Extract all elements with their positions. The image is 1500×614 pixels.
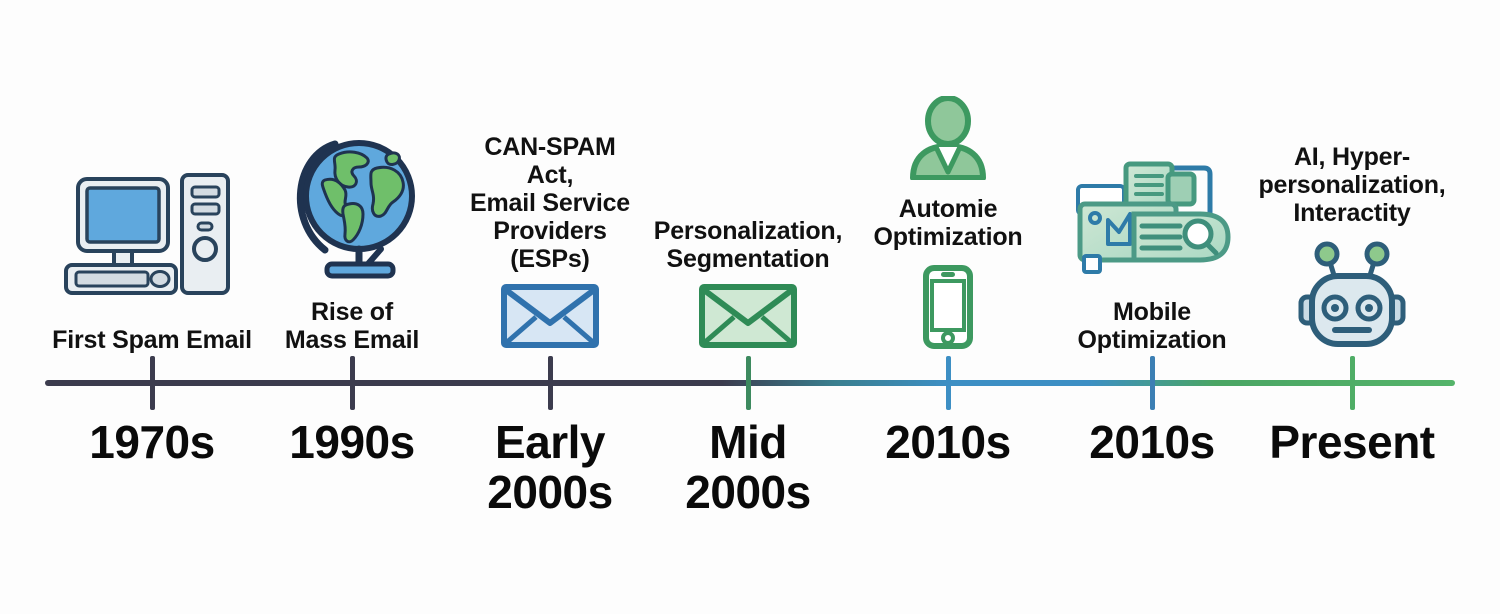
green-envelope-icon — [698, 283, 798, 354]
era-automation-optimization: Automie Optimization — [833, 0, 1063, 380]
axis-tick-mid-2000s — [746, 356, 751, 410]
era-caption: Automie Optimization — [874, 195, 1023, 251]
era-caption: Mobile Optimization — [1078, 298, 1227, 354]
year-label-present: Present — [1232, 418, 1472, 468]
era-can-spam-act: CAN-SPAM Act, Email Service Providers (E… — [435, 0, 665, 380]
era-mobile-optimization: Mobile Optimization — [1037, 0, 1267, 380]
axis-tick-present — [1350, 356, 1355, 410]
era-caption: AI, Hyper- personalization, Interactity — [1258, 143, 1445, 227]
era-ai-hyper-personalization: AI, Hyper- personalization, Interactity — [1237, 0, 1467, 380]
globe-icon — [277, 128, 427, 288]
blue-envelope-icon — [500, 283, 600, 354]
era-rise-of-mass-email: Rise of Mass Email — [237, 0, 467, 380]
era-caption: First Spam Email — [52, 326, 252, 354]
smartphone-icon — [922, 265, 974, 354]
axis-tick-2010s-a — [946, 356, 951, 410]
analytics-documents-icon — [1064, 158, 1240, 288]
era-first-spam-email: First Spam Email — [37, 0, 267, 380]
axis-tick-early-2000s — [548, 356, 553, 410]
person-icon — [905, 96, 991, 185]
axis-tick-2010s-b — [1150, 356, 1155, 410]
era-caption: Rise of Mass Email — [285, 298, 419, 354]
axis-tick-1990s — [350, 356, 355, 410]
era-caption: Personalization, Segmentation — [654, 217, 843, 273]
era-caption: CAN-SPAM Act, Email Service Providers (E… — [470, 133, 630, 273]
era-personalization-segmentation: Personalization, Segmentation — [633, 0, 863, 380]
axis-tick-1970s — [150, 356, 155, 410]
robot-icon — [1293, 237, 1411, 354]
timeline-infographic: First Spam Email — [0, 0, 1500, 614]
desktop-computer-icon — [58, 171, 246, 316]
